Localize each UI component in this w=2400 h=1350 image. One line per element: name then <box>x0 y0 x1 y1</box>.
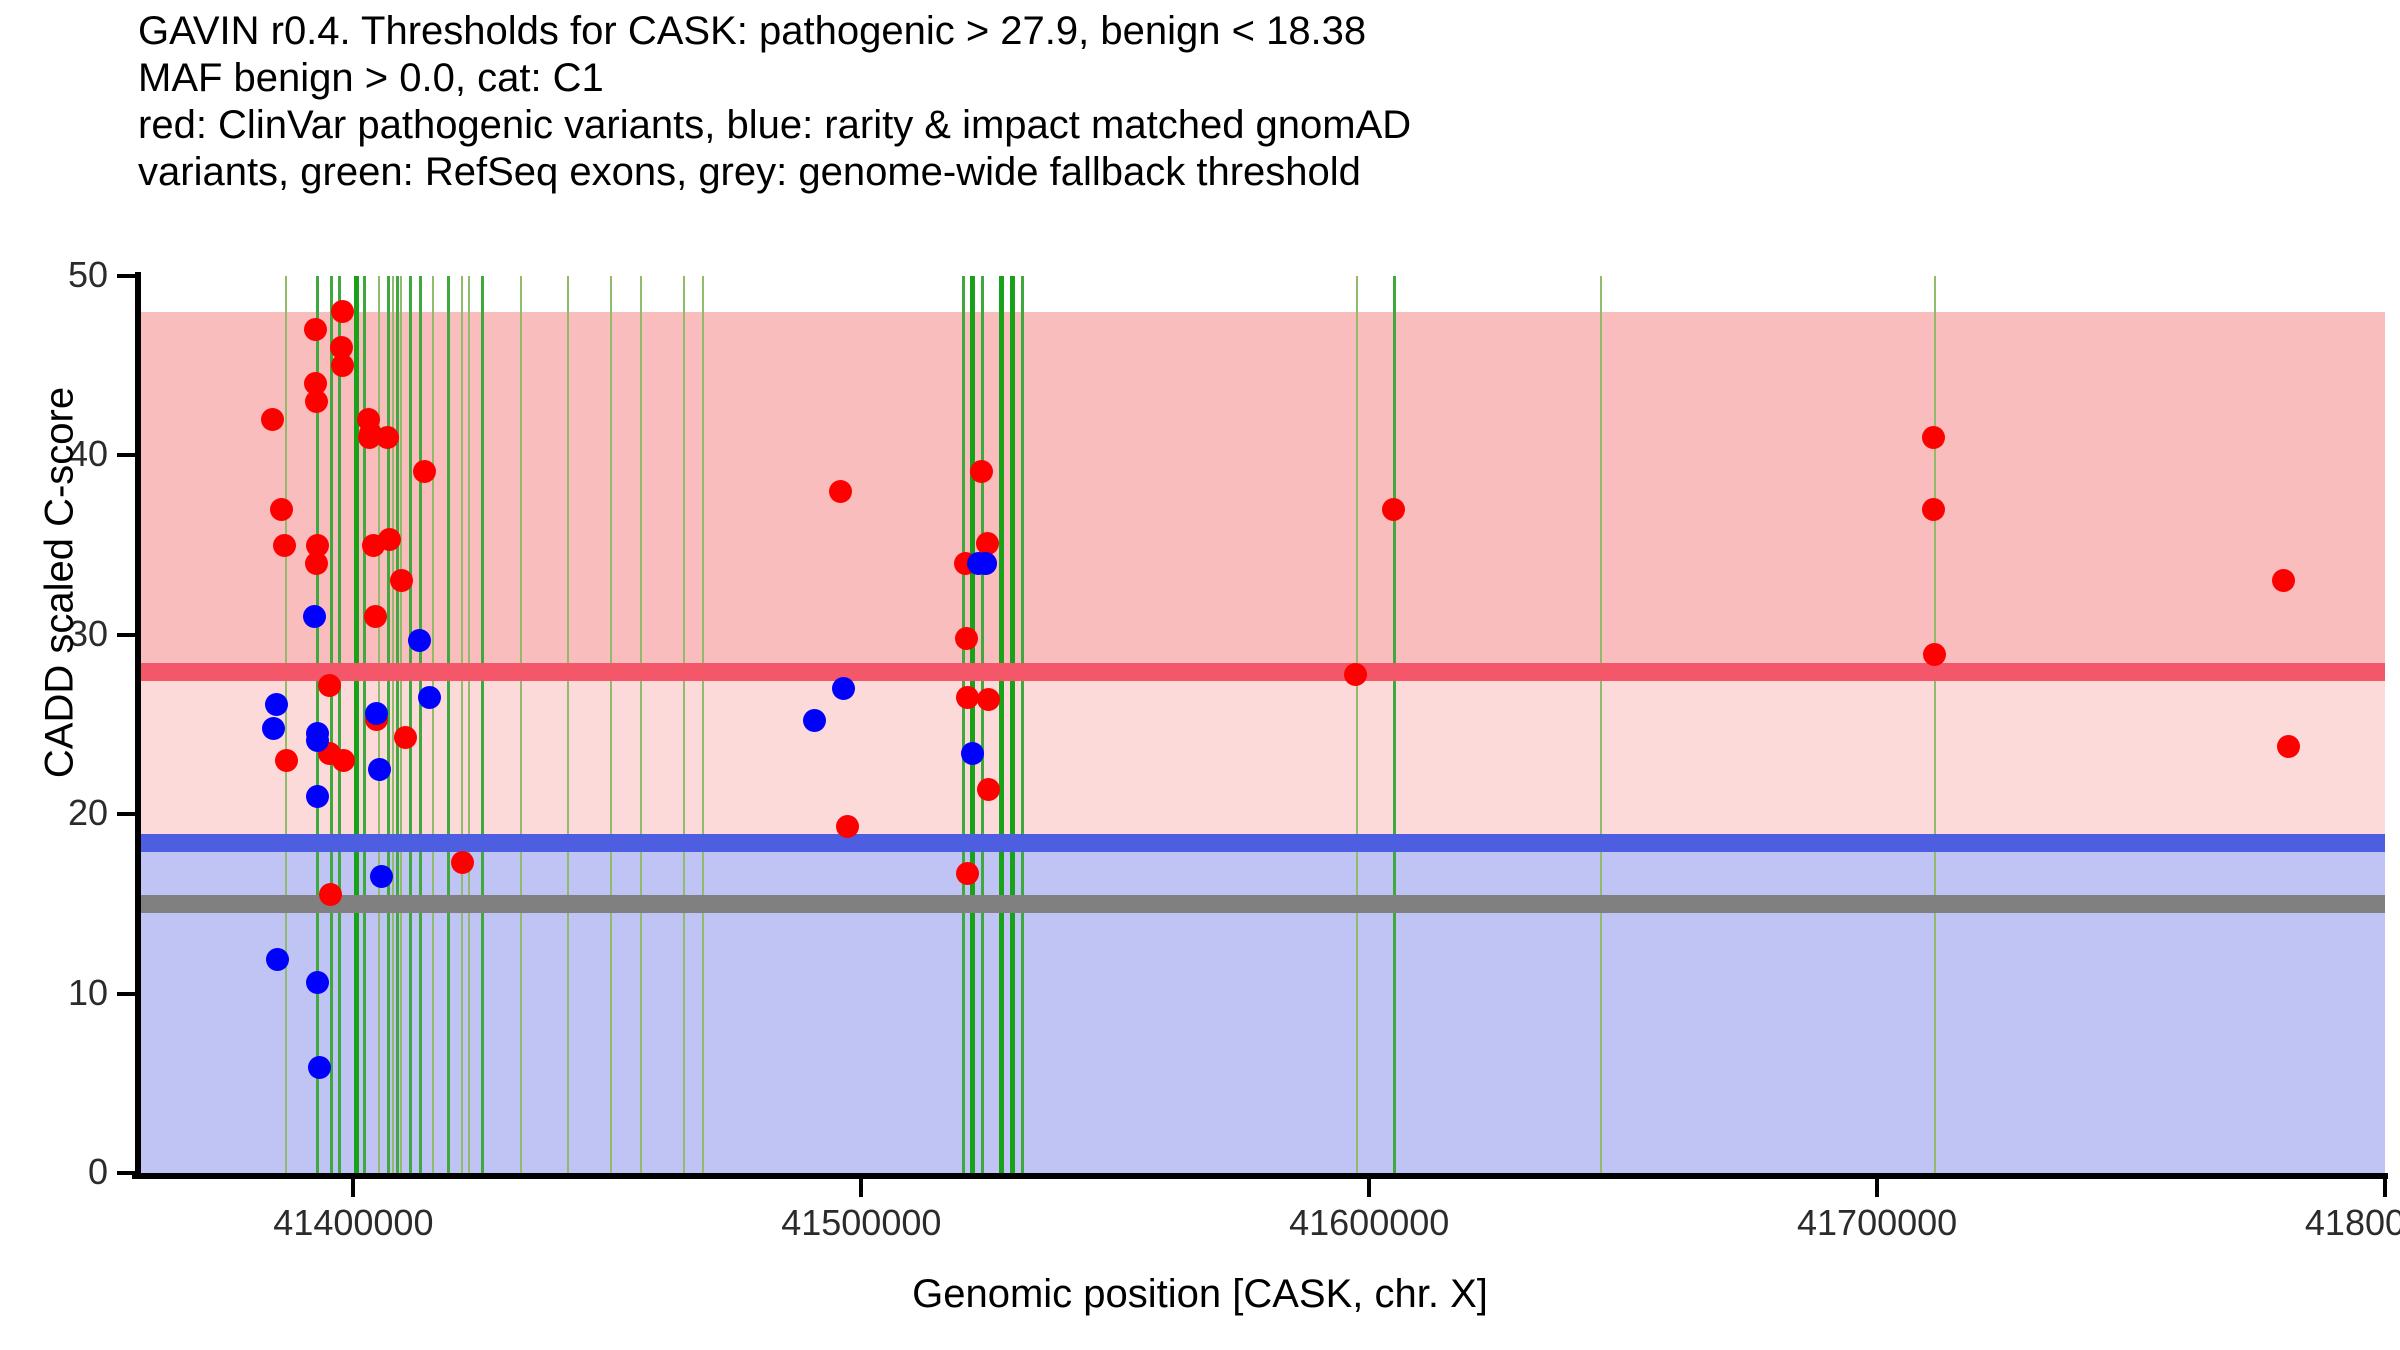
data-point-pathogenic <box>332 749 355 772</box>
x-tick-mark <box>859 1179 863 1197</box>
exon-line <box>447 276 450 1173</box>
chart-title: GAVIN r0.4. Thresholds for CASK: pathoge… <box>138 8 2338 196</box>
title-line-2: MAF benign > 0.0, cat: C1 <box>138 55 2338 102</box>
exon-line <box>567 276 569 1173</box>
data-point-pathogenic <box>970 460 993 483</box>
data-point-gnomad <box>961 742 984 765</box>
y-tick-mark <box>117 812 137 816</box>
exon-line <box>683 276 685 1173</box>
x-axis-label: Genomic position [CASK, chr. X] <box>0 1272 2400 1317</box>
plot-frame <box>135 276 2385 1173</box>
exon-line <box>962 276 965 1173</box>
data-point-gnomad <box>308 1056 331 1079</box>
data-point-pathogenic <box>364 605 387 628</box>
exon-line <box>1021 276 1024 1173</box>
exon-line <box>1934 276 1936 1173</box>
y-tick-label: 10 <box>0 972 108 1014</box>
exon-line <box>610 276 612 1173</box>
exon-line <box>1600 276 1602 1173</box>
y-tick-mark <box>117 633 137 637</box>
exon-line <box>1393 276 1396 1173</box>
data-point-pathogenic <box>955 627 978 650</box>
x-tick-label: 41600000 <box>1289 1202 1449 1244</box>
exon-line <box>330 276 333 1173</box>
exon-line <box>981 276 984 1173</box>
data-point-pathogenic <box>1923 643 1946 666</box>
exon-line <box>999 276 1004 1173</box>
exon-line <box>387 276 390 1173</box>
y-tick-label: 0 <box>0 1151 108 1193</box>
y-tick-mark <box>117 1171 137 1175</box>
exon-line <box>640 276 642 1173</box>
y-tick-mark <box>117 274 137 278</box>
data-point-gnomad <box>368 758 391 781</box>
data-point-pathogenic <box>261 408 284 431</box>
exon-line <box>461 276 463 1173</box>
exon-line <box>396 276 399 1173</box>
exon-line <box>481 276 484 1173</box>
data-point-gnomad <box>266 948 289 971</box>
exon-line <box>1010 276 1015 1173</box>
exon-line <box>468 276 470 1173</box>
exon-line <box>354 276 359 1173</box>
data-point-gnomad <box>974 552 997 575</box>
data-point-pathogenic <box>1344 663 1367 686</box>
exon-line <box>520 276 522 1173</box>
x-tick-mark <box>2383 1179 2387 1197</box>
data-point-gnomad <box>418 686 441 709</box>
data-point-pathogenic <box>390 569 413 592</box>
data-point-pathogenic <box>305 390 328 413</box>
exon-line <box>392 276 394 1173</box>
plot-area <box>135 276 2385 1173</box>
data-point-pathogenic <box>273 534 296 557</box>
x-axis-line <box>132 1173 2388 1179</box>
data-point-pathogenic <box>1382 498 1405 521</box>
title-line-3: red: ClinVar pathogenic variants, blue: … <box>138 102 2338 149</box>
x-tick-label: 41400000 <box>273 1202 433 1244</box>
exon-line <box>702 276 704 1173</box>
data-point-pathogenic <box>413 460 436 483</box>
band-intermediate-zone <box>135 672 2385 843</box>
data-point-pathogenic <box>306 534 329 557</box>
exon-line <box>432 276 434 1173</box>
y-axis-line <box>135 272 141 1178</box>
x-tick-mark <box>1875 1179 1879 1197</box>
exon-line <box>400 276 402 1173</box>
data-point-pathogenic <box>2277 735 2300 758</box>
data-point-gnomad <box>408 629 431 652</box>
data-point-pathogenic <box>318 674 341 697</box>
data-point-pathogenic <box>977 688 1000 711</box>
data-point-pathogenic <box>977 778 1000 801</box>
x-tick-label: 41800000 <box>2305 1202 2400 1244</box>
data-point-pathogenic <box>956 862 979 885</box>
data-point-gnomad <box>365 702 388 725</box>
exon-line <box>970 276 975 1173</box>
exon-line <box>419 276 422 1173</box>
exon-line <box>1356 276 1358 1173</box>
data-point-pathogenic <box>378 528 401 551</box>
data-point-pathogenic <box>394 726 417 749</box>
exon-line <box>285 276 287 1173</box>
x-tick-label: 41700000 <box>1797 1202 1957 1244</box>
threshold-line-pathogenic <box>135 663 2385 681</box>
data-point-pathogenic <box>270 498 293 521</box>
exon-line <box>338 276 341 1173</box>
title-line-1: GAVIN r0.4. Thresholds for CASK: pathoge… <box>138 8 2338 55</box>
x-tick-mark <box>1367 1179 1371 1197</box>
data-point-gnomad <box>262 717 285 740</box>
x-tick-label: 41500000 <box>781 1202 941 1244</box>
y-tick-label: 50 <box>0 254 108 296</box>
data-point-gnomad <box>832 677 855 700</box>
title-line-4: variants, green: RefSeq exons, grey: gen… <box>138 149 2338 196</box>
data-point-pathogenic <box>304 318 327 341</box>
data-point-gnomad <box>306 785 329 808</box>
band-benign-zone <box>135 843 2385 1173</box>
x-tick-mark <box>351 1179 355 1197</box>
y-axis-label: CADD scaled C-score <box>38 303 83 863</box>
exon-line <box>409 276 412 1173</box>
chart-root: GAVIN r0.4. Thresholds for CASK: pathoge… <box>0 0 2400 1350</box>
data-point-gnomad <box>803 709 826 732</box>
y-tick-mark <box>117 453 137 457</box>
threshold-line-genome-wide-fallback <box>135 895 2385 913</box>
threshold-line-benign <box>135 834 2385 852</box>
band-pathogenic-zone <box>135 312 2385 673</box>
y-tick-mark <box>117 992 137 996</box>
